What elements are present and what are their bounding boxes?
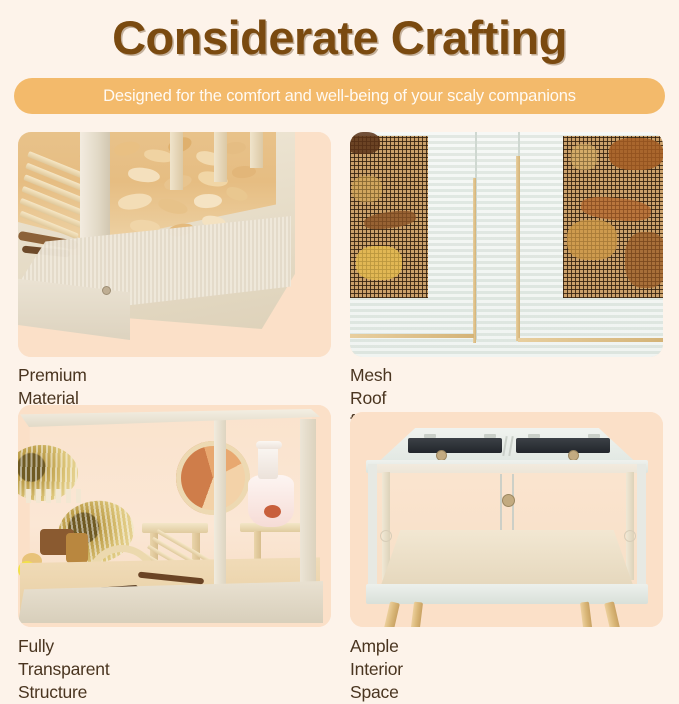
water-bottle [248,475,294,527]
feature-image-transparent-structure [18,405,331,627]
subtitle-pill: Designed for the comfort and well-being … [14,78,665,114]
feature-image-interior-space [350,412,663,627]
mesh-screen-right [563,136,663,298]
feature-image-premium-material [18,132,331,357]
infographic-page: Considerate Crafting Designed for the co… [0,0,679,679]
mesh-roof-panel-left [408,438,502,453]
exercise-wheel [176,441,250,515]
mesh-roof-panel-right [516,438,610,453]
door-latch[interactable] [502,494,515,507]
screw-icon [102,286,111,295]
feature-image-mesh-roof [350,132,663,357]
subtitle-text: Designed for the comfort and well-being … [103,87,576,106]
mesh-screen-left [350,136,428,298]
page-title: Considerate Crafting [0,8,679,68]
